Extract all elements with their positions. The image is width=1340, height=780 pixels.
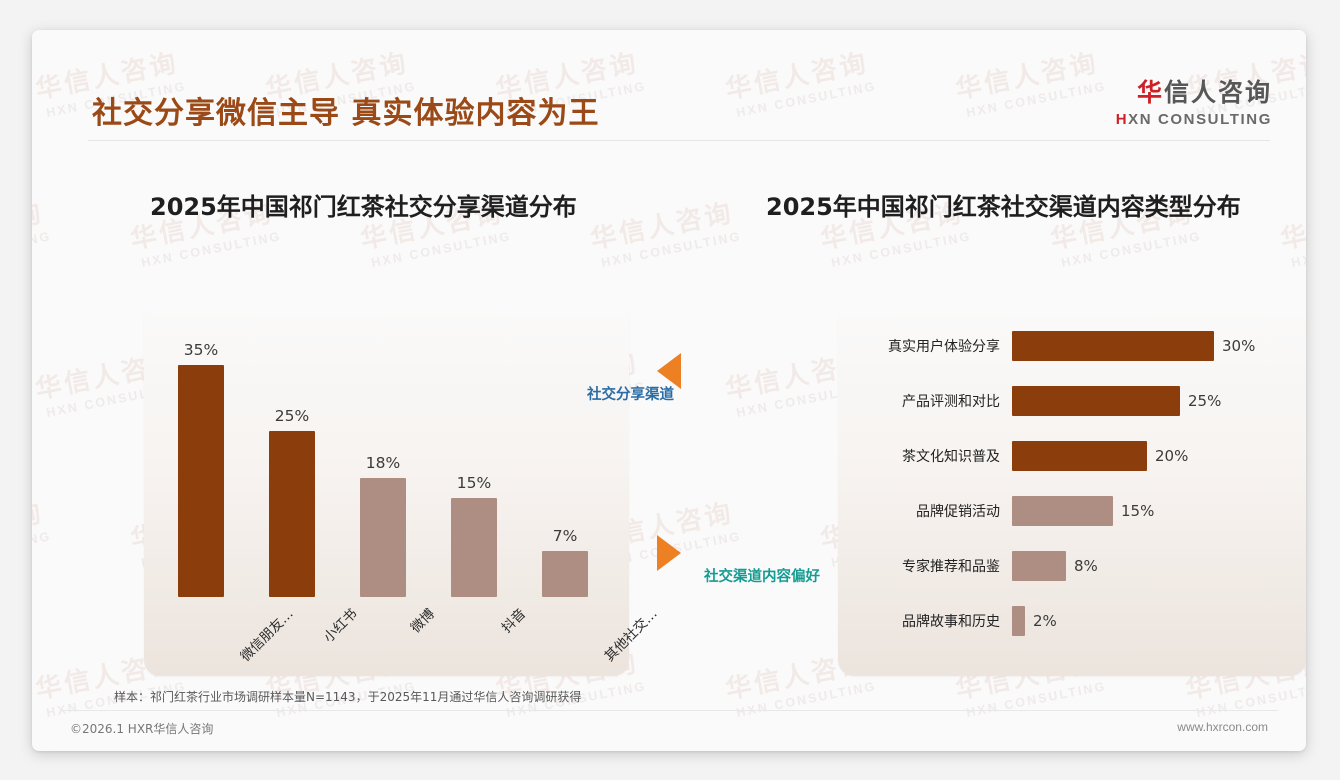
- bar-row[interactable]: 品牌故事和历史2%: [838, 606, 1306, 636]
- bar-category-label: 品牌促销活动: [838, 501, 1012, 521]
- bar-fill[interactable]: [1012, 441, 1147, 471]
- column-category-label: 微信朋友…: [235, 603, 297, 665]
- right-chart-card: 真实用户体验分享30%产品评测和对比25%茶文化知识普及20%品牌促销活动15%…: [838, 303, 1306, 676]
- bar-value-label: 15%: [1121, 502, 1154, 520]
- marker-right-label: 社交渠道内容偏好: [704, 570, 820, 585]
- bar-value-label: 30%: [1222, 337, 1255, 355]
- bar-category-label: 产品评测和对比: [838, 391, 1012, 411]
- bar-row[interactable]: 品牌促销活动15%: [838, 496, 1306, 526]
- bar-row[interactable]: 真实用户体验分享30%: [838, 331, 1306, 361]
- footer-website: www.hxrcon.com: [1177, 720, 1268, 734]
- header-divider: [88, 140, 1270, 141]
- column-value-label: 18%: [360, 456, 406, 472]
- column-bar[interactable]: [451, 498, 497, 597]
- column-bar[interactable]: [360, 478, 406, 597]
- left-chart-title: 2025年中国祁门红茶社交分享渠道分布: [150, 195, 577, 219]
- column-bar[interactable]: [542, 551, 588, 597]
- bar-fill[interactable]: [1012, 496, 1113, 526]
- triangle-right-icon: [657, 535, 681, 571]
- left-chart-panel: 2025年中国祁门红茶社交分享渠道分布: [150, 195, 577, 219]
- bar-category-label: 茶文化知识普及: [838, 446, 1012, 466]
- marker-right-group: [657, 535, 681, 571]
- bar-fill[interactable]: [1012, 331, 1214, 361]
- bar-value-label: 8%: [1074, 557, 1098, 575]
- bar-value-label: 2%: [1033, 612, 1057, 630]
- left-chart-card: 35%微信朋友…25%小红书18%微博15%抖音7%其他社交…: [144, 303, 629, 676]
- logo-chinese-rest: 信人咨询: [1164, 78, 1272, 107]
- column-value-label: 15%: [451, 476, 497, 492]
- bar-value-label: 20%: [1155, 447, 1188, 465]
- column-bar-group[interactable]: 18%: [360, 456, 406, 598]
- right-chart-panel: 2025年中国祁门红茶社交渠道内容类型分布: [766, 195, 1241, 219]
- column-bar-group[interactable]: 15%: [451, 476, 497, 598]
- column-category-label: 其他社交…: [599, 603, 661, 665]
- column-bar[interactable]: [178, 365, 224, 597]
- logo-chinese: 华信人咨询: [1116, 80, 1272, 105]
- logo-chinese-highlight: 华: [1137, 78, 1164, 107]
- bar-row[interactable]: 茶文化知识普及20%: [838, 441, 1306, 471]
- marker-left-group: [657, 353, 681, 389]
- column-category-label: 微博: [405, 603, 438, 636]
- right-chart-title: 2025年中国祁门红茶社交渠道内容类型分布: [766, 195, 1241, 219]
- column-value-label: 7%: [542, 529, 588, 545]
- column-bar-group[interactable]: 35%: [178, 343, 224, 598]
- bar-fill[interactable]: [1012, 551, 1066, 581]
- triangle-left-icon: [657, 353, 681, 389]
- logo-english-highlight: H: [1116, 111, 1128, 128]
- slide-canvas: 华信人咨询HXN CONSULTING华信人咨询HXN CONSULTING华信…: [32, 30, 1306, 751]
- column-bar-group[interactable]: 25%: [269, 409, 315, 598]
- bar-value-label: 25%: [1188, 392, 1221, 410]
- marker-left-label: 社交分享渠道: [587, 388, 674, 403]
- bar-row[interactable]: 产品评测和对比25%: [838, 386, 1306, 416]
- column-value-label: 25%: [269, 409, 315, 425]
- sample-footnote: 样本：祁门红茶行业市场调研样本量N=1143，于2025年11月通过华信人咨询调…: [114, 688, 581, 705]
- brand-logo: 华信人咨询 HXN CONSULTING: [1116, 80, 1272, 127]
- column-value-label: 35%: [178, 343, 224, 359]
- horizontal-bar-plot: 真实用户体验分享30%产品评测和对比25%茶文化知识普及20%品牌促销活动15%…: [838, 303, 1306, 676]
- logo-english-rest: XN CONSULTING: [1128, 111, 1272, 128]
- logo-english: HXN CONSULTING: [1116, 112, 1272, 127]
- page-title: 社交分享微信主导 真实体验内容为王: [92, 88, 599, 132]
- column-bar[interactable]: [269, 431, 315, 597]
- bar-fill[interactable]: [1012, 386, 1180, 416]
- column-category-label: 抖音: [496, 603, 529, 636]
- bar-category-label: 真实用户体验分享: [838, 336, 1012, 356]
- column-category-label: 小红书: [318, 603, 361, 646]
- column-chart-plot: 35%微信朋友…25%小红书18%微博15%抖音7%其他社交…: [144, 303, 629, 597]
- slide-header: 社交分享微信主导 真实体验内容为王 华信人咨询 HXN CONSULTING: [32, 30, 1306, 148]
- bar-row[interactable]: 专家推荐和品鉴8%: [838, 551, 1306, 581]
- footer-divider: [60, 710, 1278, 711]
- footer-copyright: ©2026.1 HXR华信人咨询: [70, 720, 213, 737]
- bar-fill[interactable]: [1012, 606, 1025, 636]
- bar-category-label: 专家推荐和品鉴: [838, 556, 1012, 576]
- column-bar-group[interactable]: 7%: [542, 529, 588, 598]
- bar-category-label: 品牌故事和历史: [838, 611, 1012, 631]
